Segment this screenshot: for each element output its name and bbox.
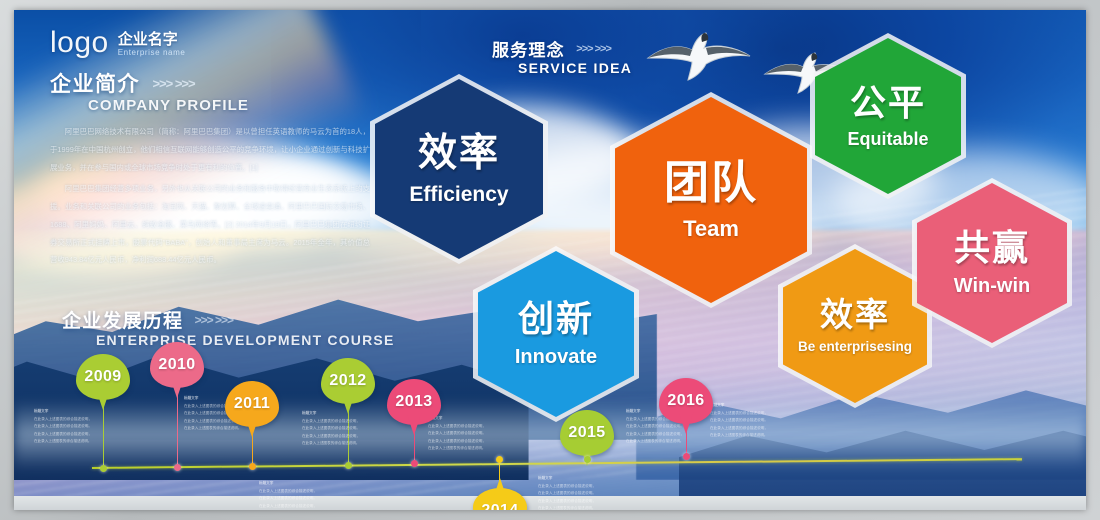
service-idea-heading-en: SERVICE IDEA: [518, 60, 632, 76]
timeline-pin: 2009: [76, 354, 130, 400]
profile-heading-en: COMPANY PROFILE: [88, 97, 380, 114]
timeline-note-body: 在此录入上述图表的综合描述说明，在此录入上述图表的综合描述说明。在此录入上述图表…: [34, 417, 92, 443]
development-course-heading-cn: 企业发展历程: [62, 306, 183, 333]
profile-paragraph: 阿里巴巴网络技术有限公司（简称：阿里巴巴集团）是以曾担任英语教师的马云为首的18…: [50, 123, 370, 177]
timeline-year-label: 2015: [568, 424, 605, 442]
timeline-pin: 2015: [560, 410, 614, 456]
timeline-marker-2016[interactable]: 2016: [659, 378, 713, 424]
timeline-year-label: 2016: [667, 392, 704, 410]
logo-wordmark: logo: [50, 28, 109, 58]
timeline-year-label: 2012: [329, 372, 366, 390]
development-course-heading: 企业发展历程 >>> >>> ENTERPRISE DEVELOPMENT CO…: [62, 306, 395, 348]
timeline-note-body: 在此录入上述图表的综合描述说明，在此录入上述图表的综合描述说明。在此录入上述图表…: [538, 484, 596, 510]
timeline-note: 标题文字 在此录入上述图表的综合描述说明，在此录入上述图表的综合描述说明。在此录…: [34, 408, 92, 445]
timeline-note-heading: 标题文字: [34, 408, 92, 415]
timeline-note: 标题文字 在此录入上述图表的综合描述说明，在此录入上述图表的综合描述说明。在此录…: [259, 480, 317, 510]
culture-wall-poster: logo 企业名字 Enterprise name 企业简介 >>> >>> C…: [0, 0, 1100, 520]
hexagon-label-cn: 团队: [664, 160, 758, 205]
timeline-note: 标题文字 在此录入上述图表的综合描述说明，在此录入上述图表的综合描述说明。在此录…: [302, 410, 360, 447]
timeline-dot: [249, 463, 256, 470]
hexagon-label-en: Team: [683, 218, 739, 240]
timeline-note-heading: 标题文字: [302, 410, 360, 417]
chevron-arrows-icon: >>> >>>: [152, 76, 194, 91]
profile-body-copy: 阿里巴巴网络技术有限公司（简称：阿里巴巴集团）是以曾担任英语教师的马云为首的18…: [50, 123, 370, 269]
timeline-pin: 2012: [321, 358, 375, 404]
hexagon-label-en: Efficiency: [409, 184, 508, 205]
profile-paragraph: 阿里巴巴集团经营多项业务，另外也从关联公司的业务和服务中取得经营商业生态系统上的…: [50, 180, 370, 270]
timeline-dot: [100, 465, 107, 472]
timeline-marker-2012[interactable]: 2012: [321, 358, 375, 404]
timeline-pin: 2016: [659, 378, 713, 424]
timeline-note-body: 在此录入上述图表的综合描述说明，在此录入上述图表的综合描述说明。在此录入上述图表…: [259, 489, 317, 510]
hexagon-label-cn: 效率: [820, 298, 890, 331]
timeline-dot: [496, 456, 503, 463]
hexagon-label-cn: 效率: [418, 134, 500, 173]
timeline-year-label: 2009: [84, 368, 121, 386]
timeline-pin: 2011: [225, 381, 279, 427]
timeline-year-label: 2010: [158, 356, 195, 374]
company-profile-block: logo 企业名字 Enterprise name 企业简介 >>> >>> C…: [50, 28, 380, 272]
profile-heading-cn: 企业简介: [50, 68, 140, 98]
timeline-dot: [345, 462, 352, 469]
profile-heading: 企业简介 >>> >>> COMPANY PROFILE: [50, 68, 380, 114]
timeline-year-label: 2014: [481, 502, 518, 510]
timeline-dot: [174, 464, 181, 471]
timeline-marker-2014[interactable]: 2014: [473, 488, 527, 510]
timeline-dot: [584, 456, 591, 463]
company-name-en: Enterprise name: [118, 49, 186, 58]
hexagon-label-cn: 公平: [850, 85, 926, 121]
timeline-note: 标题文字 在此录入上述图表的综合描述说明，在此录入上述图表的综合描述说明。在此录…: [710, 402, 768, 439]
hexagon-label-en: Equitable: [847, 130, 928, 148]
hexagon-label-cn: 创新: [518, 301, 594, 337]
hexagon-label-cn: 共赢: [954, 230, 1030, 266]
service-idea-heading-cn: 服务理念: [492, 36, 565, 61]
timeline-marker-2011[interactable]: 2011: [225, 381, 279, 427]
hexagon-label-en: Win-win: [954, 276, 1030, 296]
chevron-arrows-icon: >>> >>>: [195, 313, 233, 327]
timeline-pin: 2014: [473, 488, 527, 510]
timeline-marker-2013[interactable]: 2013: [387, 379, 441, 425]
timeline-dot: [683, 453, 690, 460]
seagull-icon: [644, 28, 754, 86]
timeline-note-body: 在此录入上述图表的综合描述说明，在此录入上述图表的综合描述说明。在此录入上述图表…: [302, 419, 360, 445]
timeline-year-label: 2011: [234, 395, 270, 413]
poster-artboard: logo 企业名字 Enterprise name 企业简介 >>> >>> C…: [14, 10, 1086, 510]
hexagon-label-en: Innovate: [515, 347, 597, 367]
timeline-pin: 2013: [387, 379, 441, 425]
timeline-marker-2009[interactable]: 2009: [76, 354, 130, 400]
development-course-heading-en: ENTERPRISE DEVELOPMENT COURSE: [96, 332, 395, 348]
chevron-arrows-icon: >>> >>>: [576, 43, 611, 55]
company-name-group: 企业名字 Enterprise name: [118, 32, 186, 58]
timeline-year-label: 2013: [395, 393, 432, 411]
timeline-dot: [411, 460, 418, 467]
timeline-note-heading: 标题文字: [710, 402, 768, 409]
timeline-note-body: 在此录入上述图表的综合描述说明，在此录入上述图表的综合描述说明。在此录入上述图表…: [428, 424, 486, 450]
service-idea-heading: 服务理念 >>> >>> SERVICE IDEA: [492, 36, 632, 76]
timeline-marker-2010[interactable]: 2010: [150, 342, 204, 388]
timeline-note-heading: 标题文字: [259, 480, 317, 487]
timeline-marker-2015[interactable]: 2015: [560, 410, 614, 456]
hexagon-label-en: Be enterprisesing: [798, 340, 912, 354]
company-name-cn: 企业名字: [118, 32, 186, 48]
timeline-note-body: 在此录入上述图表的综合描述说明，在此录入上述图表的综合描述说明。在此录入上述图表…: [710, 411, 768, 437]
timeline-note-heading: 标题文字: [538, 475, 596, 482]
logo-row: logo 企业名字 Enterprise name: [50, 28, 380, 58]
timeline-note: 标题文字 在此录入上述图表的综合描述说明，在此录入上述图表的综合描述说明。在此录…: [538, 475, 596, 510]
timeline-pin: 2010: [150, 342, 204, 388]
